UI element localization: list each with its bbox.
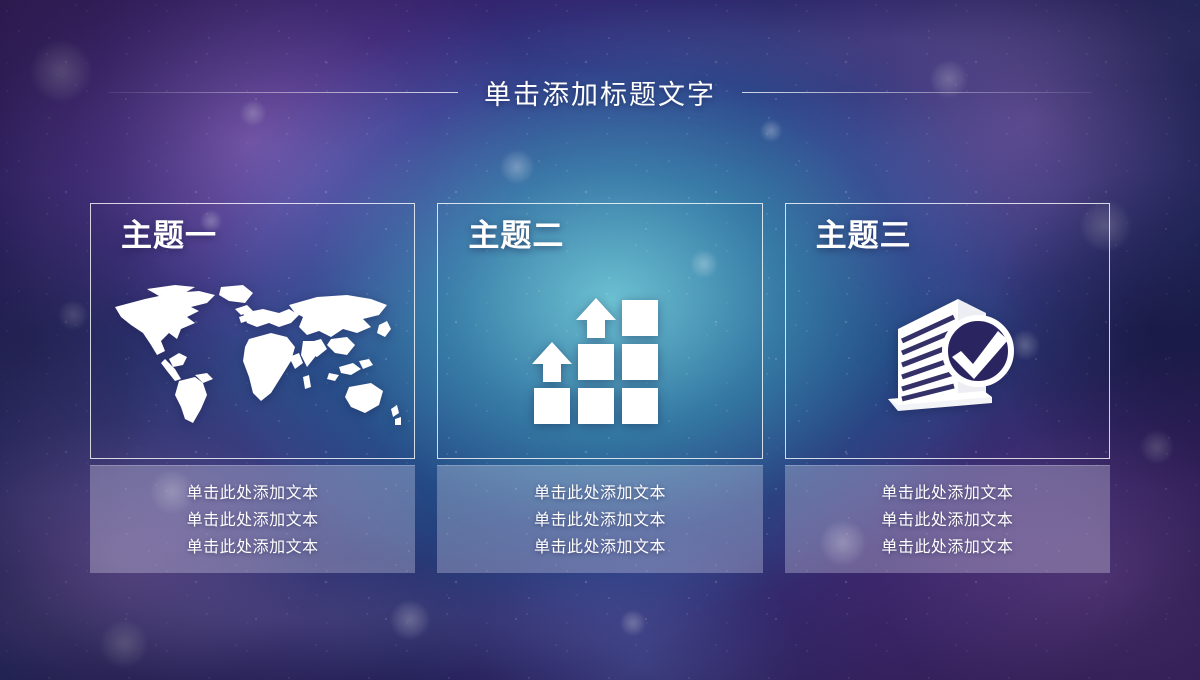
caption-line: 单击此处添加文本 — [187, 536, 319, 559]
slide-title-row: 单击添加标题文字 — [0, 70, 1200, 114]
caption-line: 单击此处添加文本 — [534, 482, 666, 505]
theme-card-2-heading: 主题二 — [468, 210, 564, 255]
slide-canvas: 单击添加标题文字 主题一 — [0, 0, 1200, 680]
title-rule-left — [108, 92, 458, 93]
caption-line: 单击此处添加文本 — [534, 509, 666, 532]
world-map-icon — [91, 266, 414, 450]
caption-panel-3[interactable]: 单击此处添加文本 单击此处添加文本 单击此处添加文本 — [785, 465, 1110, 573]
caption-line: 单击此处添加文本 — [881, 482, 1013, 505]
theme-card-row: 主题一 — [90, 203, 1110, 459]
building-check-badge-icon — [786, 266, 1109, 450]
caption-line: 单击此处添加文本 — [881, 509, 1013, 532]
caption-line: 单击此处添加文本 — [187, 482, 319, 505]
theme-card-3-heading: 主题三 — [816, 210, 912, 255]
caption-panel-row: 单击此处添加文本 单击此处添加文本 单击此处添加文本 单击此处添加文本 单击此处… — [90, 465, 1110, 573]
caption-panel-1[interactable]: 单击此处添加文本 单击此处添加文本 单击此处添加文本 — [90, 465, 415, 573]
caption-panel-2[interactable]: 单击此处添加文本 单击此处添加文本 单击此处添加文本 — [437, 465, 762, 573]
growth-blocks-arrows-icon — [438, 266, 761, 450]
theme-card-2[interactable]: 主题二 — [437, 203, 762, 459]
theme-card-3[interactable]: 主题三 — [785, 203, 1110, 459]
theme-card-1[interactable]: 主题一 — [90, 203, 415, 459]
page-title: 单击添加标题文字 — [458, 73, 742, 112]
caption-line: 单击此处添加文本 — [187, 509, 319, 532]
title-rule-right — [742, 92, 1092, 93]
caption-line: 单击此处添加文本 — [534, 536, 666, 559]
theme-card-1-heading: 主题一 — [121, 210, 217, 255]
caption-line: 单击此处添加文本 — [881, 536, 1013, 559]
